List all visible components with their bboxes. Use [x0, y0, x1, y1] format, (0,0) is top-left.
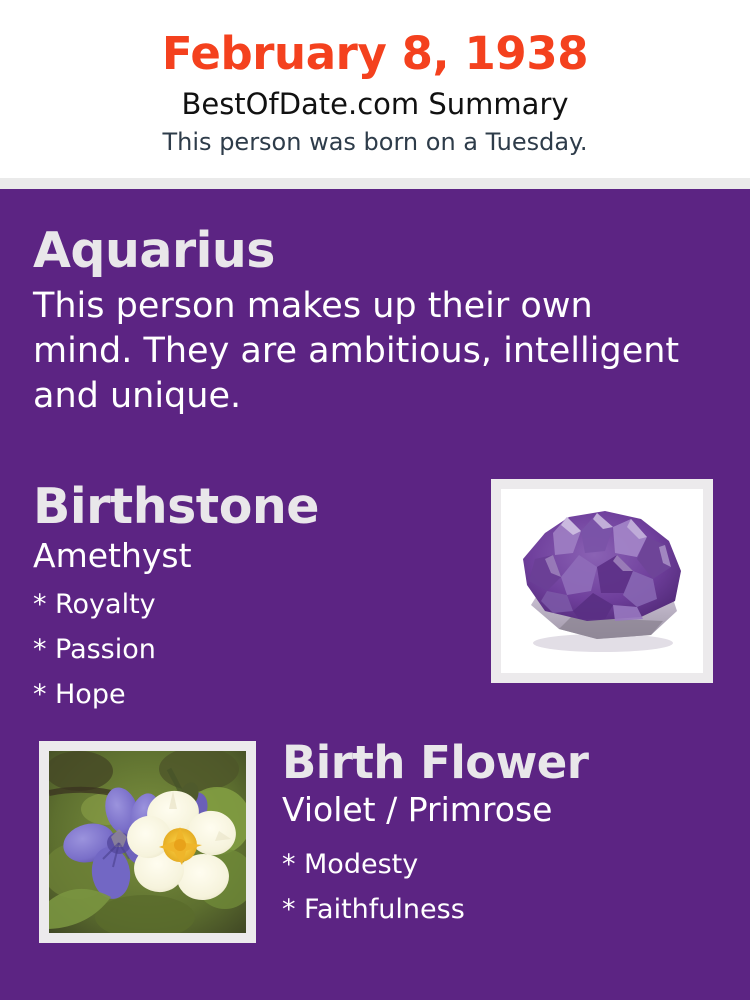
birthstone-section: Birthstone Amethyst *Royalty *Passion *H…: [33, 478, 473, 717]
header: February 8, 1938 BestOfDate.com Summary …: [0, 0, 750, 178]
birth-flower-name: Violet / Primrose: [282, 790, 722, 830]
birthstone-heading: Birthstone: [33, 478, 473, 536]
asterisk-icon: *: [282, 842, 304, 887]
list-item: *Modesty: [282, 842, 722, 887]
zodiac-section: Aquarius This person makes up their own …: [33, 222, 693, 419]
birth-flower-heading: Birth Flower: [282, 736, 722, 790]
date-summary-card: February 8, 1938 BestOfDate.com Summary …: [0, 0, 750, 1000]
birth-flower-trait-list: *Modesty *Faithfulness: [282, 842, 722, 932]
list-item: *Faithfulness: [282, 887, 722, 932]
violet-and-primrose-icon: [49, 751, 246, 933]
birth-flower-image: [49, 751, 246, 933]
amethyst-crystal-icon: [501, 489, 703, 673]
list-item-label: Royalty: [55, 589, 156, 620]
list-item-label: Passion: [55, 634, 156, 665]
list-item-label: Hope: [55, 679, 126, 710]
page-title: February 8, 1938: [0, 26, 750, 82]
asterisk-icon: *: [282, 887, 304, 932]
birth-flower-image-frame: [39, 741, 256, 943]
zodiac-heading: Aquarius: [33, 222, 693, 280]
list-item: *Hope: [33, 672, 473, 717]
header-divider: [0, 178, 750, 189]
asterisk-icon: *: [33, 672, 55, 717]
list-item: *Royalty: [33, 582, 473, 627]
weekday-statement: This person was born on a Tuesday.: [0, 126, 750, 158]
birthstone-image: [501, 489, 703, 673]
site-subtitle: BestOfDate.com Summary: [0, 86, 750, 122]
birthstone-name: Amethyst: [33, 536, 473, 576]
list-item: *Passion: [33, 627, 473, 672]
birth-flower-section: Birth Flower Violet / Primrose *Modesty …: [282, 736, 722, 932]
birthstone-trait-list: *Royalty *Passion *Hope: [33, 582, 473, 717]
list-item-label: Faithfulness: [304, 894, 465, 925]
list-item-label: Modesty: [304, 849, 418, 880]
asterisk-icon: *: [33, 582, 55, 627]
birthstone-image-frame: [491, 479, 713, 683]
zodiac-description: This person makes up their own mind. The…: [33, 284, 681, 419]
asterisk-icon: *: [33, 627, 55, 672]
